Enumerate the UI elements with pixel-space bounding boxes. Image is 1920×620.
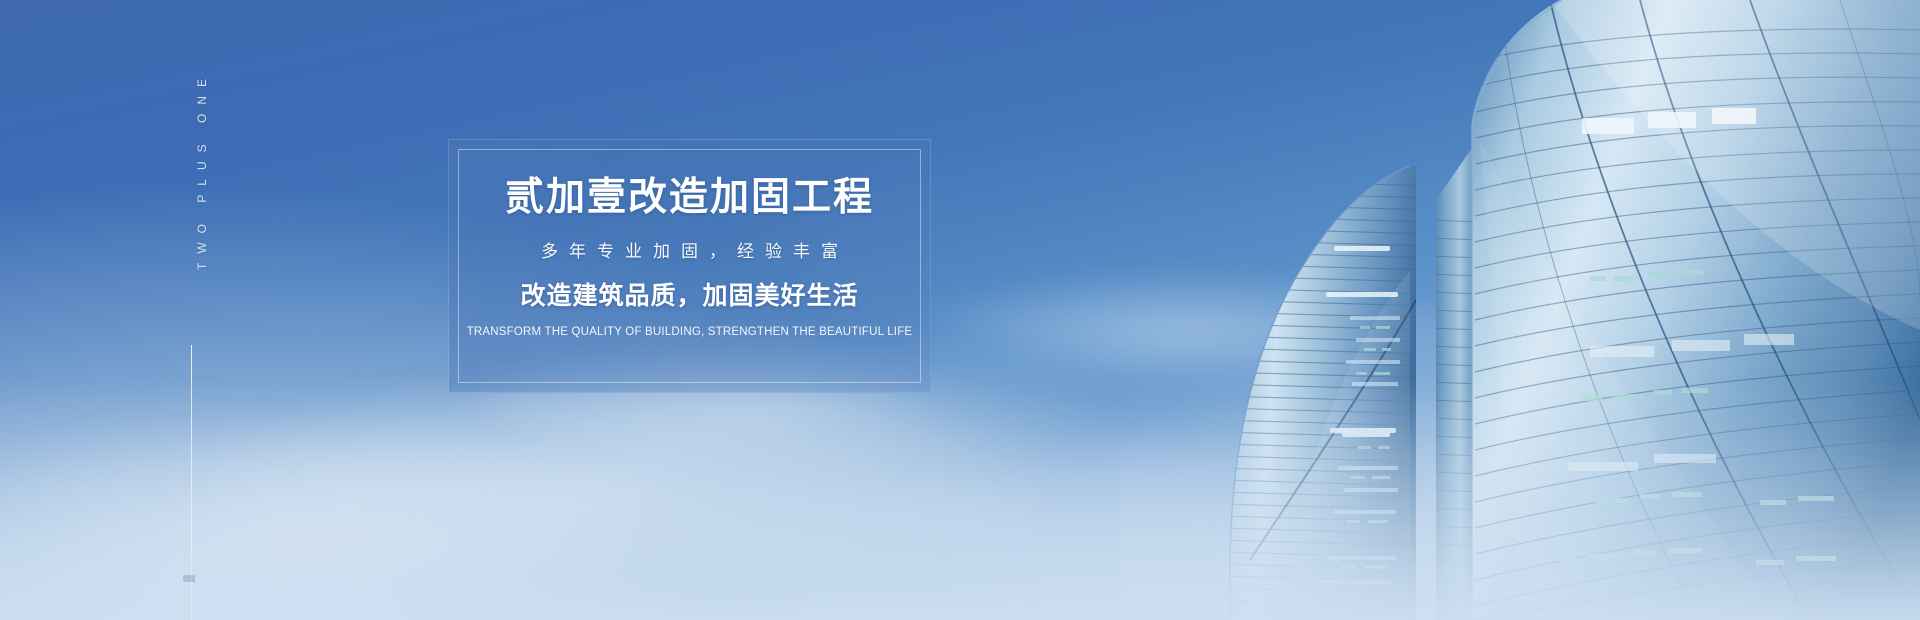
subtitle: 多年专业加固，经验丰富 — [530, 243, 849, 260]
page-title: 贰加壹改造加固工程 — [505, 178, 874, 217]
english-tagline: TRANSFORM THE QUALITY OF BUILDING, STREN… — [467, 327, 913, 339]
hero-text-panel: 贰加壹改造加固工程 多年专业加固，经验丰富 改造建筑品质，加固美好生活 TRAN… — [448, 139, 931, 393]
vertical-brand-text: TWO PLUS ONE — [196, 70, 208, 270]
small-decor-mark — [183, 575, 195, 582]
skyscrapers-illustration — [1120, 0, 1920, 620]
hero-banner: TWO PLUS ONE 贰加壹改造加固工程 多年专业加固，经验丰富 改造建筑品… — [0, 0, 1920, 620]
tagline: 改造建筑品质，加固美好生活 — [520, 284, 858, 309]
cloud-d — [0, 430, 700, 620]
cloud-c — [900, 270, 1460, 390]
cloud-a — [180, 370, 1080, 580]
panel-content: 贰加壹改造加固工程 多年专业加固，经验丰富 改造建筑品质，加固美好生活 TRAN… — [449, 140, 930, 392]
vertical-brand: TWO PLUS ONE — [191, 70, 213, 330]
cloud-e — [640, 430, 1400, 620]
bottom-haze — [0, 380, 1920, 620]
